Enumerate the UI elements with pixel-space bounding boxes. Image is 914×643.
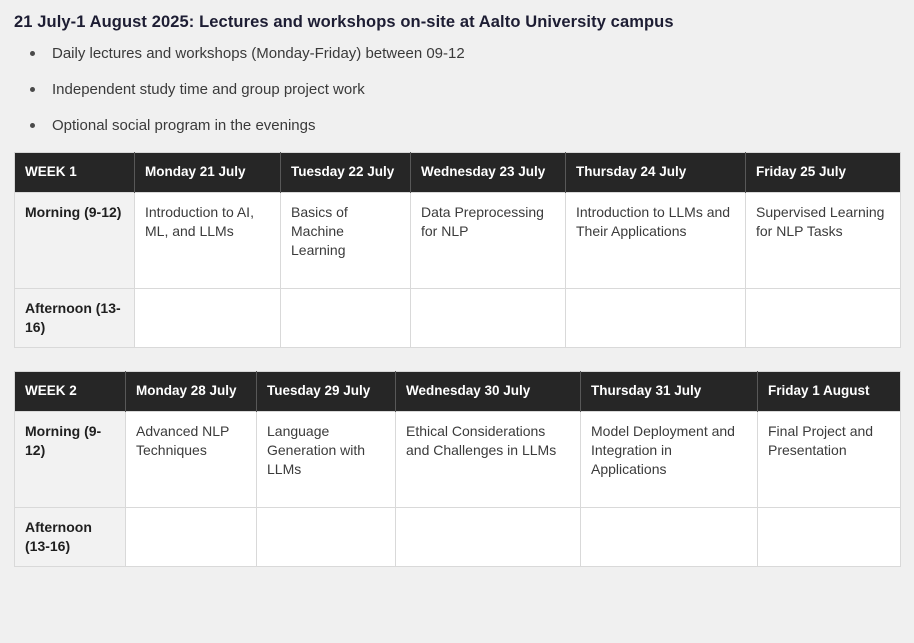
row-header-afternoon: Afternoon (13-16) [15,289,135,348]
week-1-table-wrapper: WEEK 1 Monday 21 July Tuesday 22 July We… [14,152,900,348]
table-header-row-week-2: WEEK 2 Monday 28 July Tuesday 29 July We… [15,372,901,412]
list-item: Daily lectures and workshops (Monday-Fri… [14,44,900,64]
cell-wednesday-afternoon [396,508,581,567]
table-header-row-week-1: WEEK 1 Monday 21 July Tuesday 22 July We… [15,153,901,193]
column-header-week: WEEK 2 [15,372,126,412]
cell-monday-morning: Advanced NLP Techniques [126,412,257,508]
cell-friday-morning: Supervised Learning for NLP Tasks [746,193,901,289]
cell-friday-morning: Final Project and Presentation [758,412,901,508]
list-item-label: Daily lectures and workshops (Monday-Fri… [52,45,465,62]
column-header-tuesday: Tuesday 29 July [257,372,396,412]
list-item: Independent study time and group project… [14,80,900,100]
cell-tuesday-morning: Language Generation with LLMs [257,412,396,508]
cell-thursday-morning: Model Deployment and Integration in Appl… [581,412,758,508]
cell-tuesday-afternoon [281,289,411,348]
table-row: Morning (9-12) Advanced NLP Techniques L… [15,412,901,508]
column-header-wednesday: Wednesday 23 July [411,153,566,193]
column-header-monday: Monday 21 July [135,153,281,193]
column-header-friday: Friday 25 July [746,153,901,193]
page-title: 21 July-1 August 2025: Lectures and work… [14,0,900,33]
schedule-table-week-2: WEEK 2 Monday 28 July Tuesday 29 July We… [14,371,901,567]
table-row: WEEK 2 Monday 28 July Tuesday 29 July We… [15,372,901,412]
schedule-table-week-1: WEEK 1 Monday 21 July Tuesday 22 July We… [14,152,901,348]
column-header-thursday: Thursday 31 July [581,372,758,412]
course-info-bullet-list: Daily lectures and workshops (Monday-Fri… [14,44,900,136]
column-header-friday: Friday 1 August [758,372,901,412]
schedule-page: 21 July-1 August 2025: Lectures and work… [0,0,914,643]
cell-tuesday-afternoon [257,508,396,567]
week-2-table-wrapper: WEEK 2 Monday 28 July Tuesday 29 July We… [14,371,900,567]
bullet-dot-icon [30,87,35,92]
row-header-afternoon: Afternoon (13-16) [15,508,126,567]
row-header-morning: Morning (9-12) [15,193,135,289]
row-header-morning: Morning (9-12) [15,412,126,508]
list-item: Optional social program in the evenings [14,116,900,136]
bullet-dot-icon [30,123,35,128]
table-row: Afternoon (13-16) [15,508,901,567]
cell-friday-afternoon [746,289,901,348]
cell-thursday-afternoon [581,508,758,567]
column-header-wednesday: Wednesday 30 July [396,372,581,412]
list-item-label: Optional social program in the evenings [52,117,315,134]
cell-wednesday-morning: Ethical Considerations and Challenges in… [396,412,581,508]
column-header-week: WEEK 1 [15,153,135,193]
table-body-week-1: Morning (9-12) Introduction to AI, ML, a… [15,193,901,348]
cell-wednesday-morning: Data Preprocessing for NLP [411,193,566,289]
column-header-thursday: Thursday 24 July [566,153,746,193]
bullet-dot-icon [30,51,35,56]
cell-tuesday-morning: Basics of Machine Learning [281,193,411,289]
cell-monday-morning: Introduction to AI, ML, and LLMs [135,193,281,289]
cell-monday-afternoon [135,289,281,348]
cell-friday-afternoon [758,508,901,567]
column-header-monday: Monday 28 July [126,372,257,412]
list-item-label: Independent study time and group project… [52,81,365,98]
table-row: Afternoon (13-16) [15,289,901,348]
column-header-tuesday: Tuesday 22 July [281,153,411,193]
cell-wednesday-afternoon [411,289,566,348]
table-body-week-2: Morning (9-12) Advanced NLP Techniques L… [15,412,901,567]
cell-monday-afternoon [126,508,257,567]
cell-thursday-morning: Introduction to LLMs and Their Applicati… [566,193,746,289]
table-row: WEEK 1 Monday 21 July Tuesday 22 July We… [15,153,901,193]
table-row: Morning (9-12) Introduction to AI, ML, a… [15,193,901,289]
cell-thursday-afternoon [566,289,746,348]
